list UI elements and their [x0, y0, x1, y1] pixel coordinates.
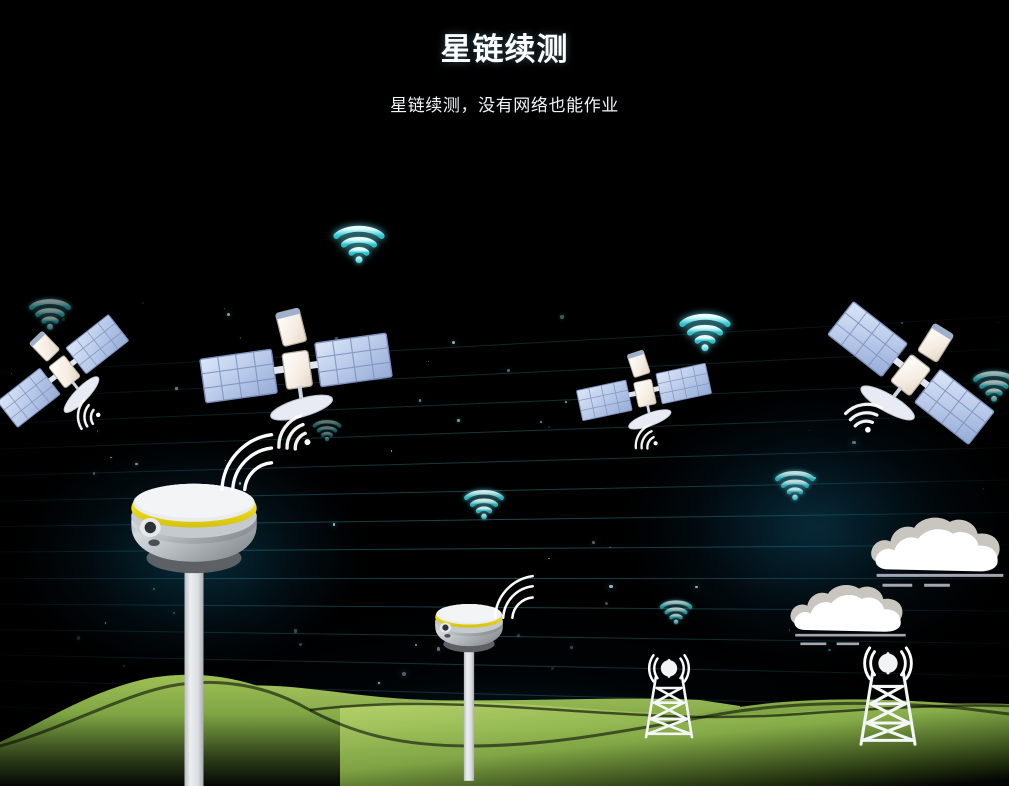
- page-subtitle: 星链续测，没有网络也能作业: [0, 69, 1009, 116]
- star-particle: [175, 387, 178, 390]
- star-particle: [105, 622, 106, 623]
- star-particle: [452, 341, 455, 344]
- star-particle: [93, 472, 96, 475]
- header: 星链续测 星链续测，没有网络也能作业: [0, 0, 1009, 116]
- hero-illustration: 星链续测 星链续测，没有网络也能作业: [0, 0, 1009, 786]
- star-particle: [560, 315, 563, 318]
- wifi-signal-6: [774, 468, 816, 501]
- wifi-signal-8: [972, 368, 1009, 402]
- star-particle: [609, 547, 611, 549]
- star-particle: [77, 636, 80, 639]
- star-particle: [333, 523, 336, 526]
- cloud-lower-right: [786, 580, 908, 651]
- gnss-receiver-small-signal-arcs: [492, 571, 543, 622]
- star-particle: [457, 419, 460, 422]
- star-particle: [517, 634, 520, 637]
- page-title: 星链续测: [0, 0, 1009, 69]
- wifi-signal-4: [678, 310, 732, 352]
- star-particle: [605, 602, 608, 605]
- radio-tower-left: [636, 652, 702, 742]
- wifi-signal-5: [463, 487, 505, 520]
- gnss-receiver-large-signal-arcs: [218, 428, 285, 495]
- wifi-signal-2: [332, 222, 386, 264]
- star-particle: [609, 585, 612, 588]
- star-particle: [592, 541, 595, 544]
- star-particle: [548, 426, 550, 428]
- satellite-upper-left: [183, 255, 409, 481]
- star-particle: [809, 430, 810, 431]
- star-particle: [540, 421, 542, 423]
- star-particle: [565, 401, 568, 404]
- wifi-signal-3: [312, 418, 342, 441]
- star-particle: [982, 488, 984, 490]
- star-particle: [428, 361, 430, 363]
- gnss-receiver-small: [428, 602, 510, 781]
- radio-tower-right: [848, 644, 928, 750]
- star-particle: [419, 399, 421, 401]
- star-particle: [294, 629, 297, 632]
- star-particle: [142, 302, 144, 304]
- wifi-signal-1: [28, 296, 72, 330]
- star-particle: [110, 457, 112, 459]
- star-particle: [507, 369, 510, 372]
- star-particle: [548, 558, 549, 559]
- gnss-receiver-large: [118, 480, 270, 786]
- star-particle: [135, 463, 137, 465]
- star-particle: [695, 586, 697, 588]
- wifi-signal-7: [659, 598, 693, 625]
